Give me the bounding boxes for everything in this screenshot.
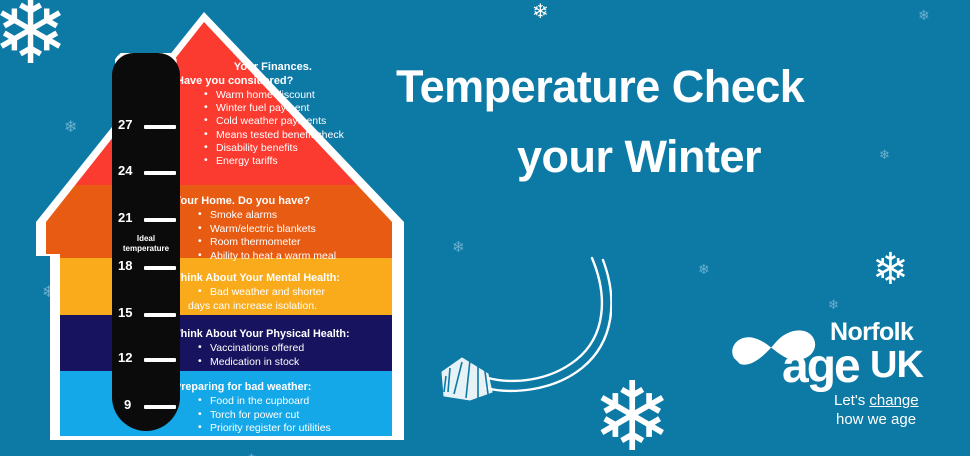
home-title: Your Home. Do you have? [174,195,336,208]
thermometer-tick-mark [144,125,176,129]
list-item: Disability benefits [202,142,344,155]
finances-title-line1: Your Finances. [176,61,344,74]
thermometer-tick-mark [144,313,176,317]
home-text-block: Your Home. Do you have? Smoke alarmsWarm… [174,195,336,263]
home-list: Smoke alarmsWarm/electric blanketsRoom t… [174,209,336,263]
snowflake-mid-right: ❄ [698,262,710,276]
logo-tagline-line2: how we age [836,411,916,428]
physical-list: Vaccinations offeredMedication in stock [174,342,350,369]
list-item: Means tested benefit check [202,129,344,142]
list-item: Warm/electric blankets [196,223,336,236]
logo-uk-text: UK [870,344,923,387]
physical-title: Think About Your Physical Health: [174,328,350,341]
logo-age-text: age [782,339,859,394]
scarf-swoosh-icon [440,250,612,402]
weather-list: Food in the cupboardTorch for power cutP… [174,395,331,435]
logo-tagline-lets: Let's [834,392,869,409]
snowflake-right-upper: ❄ [872,248,909,292]
ideal-label-line2: temperature [123,244,169,253]
list-item: Bad weather and shorter [196,286,340,299]
physical-text-block: Think About Your Physical Health: Vaccin… [174,328,350,369]
thermometer-tick-mark [144,358,176,362]
list-item: Energy tariffs [202,155,344,168]
headline-line-2: your Winter [396,122,952,192]
list-item: Ability to heat a warm meal [196,250,336,263]
page-title: Temperature Check your Winter [396,52,952,192]
mental-title: Think About Your Mental Health: [174,272,340,285]
thermometer-tick-label: 9 [124,397,131,412]
logo-tagline-line1: Let's change [834,392,919,409]
list-item: Winter fuel payment [202,102,344,115]
ideal-temperature-label: Ideal temperature [108,234,184,254]
list-item: Warm home discount [202,89,344,102]
list-item: Cold weather payments [202,115,344,128]
list-item: Medication in stock [196,356,350,369]
finances-list: Warm home discountWinter fuel paymentCol… [176,89,344,168]
snowflake-bottom-left: ❄ [246,452,257,456]
thermometer-tick-label: 27 [118,117,132,132]
thermometer-tick-mark [144,266,176,270]
list-item: Room thermometer [196,236,336,249]
thermometer-tick-mark [144,405,176,409]
thermometer-tick-mark [144,171,176,175]
thermometer-tick-label: 18 [118,258,132,273]
snowflake-right-low: ❄ [828,298,839,311]
thermometer-tick-label: 24 [118,163,132,178]
thermometer-tick-mark [144,218,176,222]
weather-text-block: Preparing for bad weather: Food in the c… [174,381,331,436]
list-item: Food in the cupboard [196,395,331,408]
list-item: Priority register for utilities [196,422,331,435]
mental-continuation: days can increase isolation. [174,300,340,313]
list-item: Vaccinations offered [196,342,350,355]
list-item: Smoke alarms [196,209,336,222]
thermometer-tick-label: 21 [118,210,132,225]
age-uk-norfolk-logo[interactable]: Norfolk age UK Let's change how we age [726,316,926,434]
ideal-label-line1: Ideal [137,234,155,243]
snowflake-top-mid: ❄ [532,2,549,22]
snowflake-top-right: ❄ [918,8,930,22]
house-infographic: Your Finances. Have you considered? Warm… [36,6,446,440]
weather-title: Preparing for bad weather: [174,381,331,394]
headline-line-1: Temperature Check [396,52,952,122]
mental-list: Bad weather and shorter [174,286,340,299]
thermometer: 2724211815129 Ideal temperature [108,53,184,437]
list-item: Torch for power cut [196,409,331,422]
poster-canvas: ❄❄❄❄❄❄❄❄❄❄❄❄ [0,0,970,456]
thermometer-tick-label: 15 [118,305,132,320]
finances-title-line2: Have you considered? [176,75,344,88]
finances-text-block: Your Finances. Have you considered? Warm… [176,61,344,168]
thermometer-tick-label: 12 [118,350,132,365]
mental-text-block: Think About Your Mental Health: Bad weat… [174,272,340,313]
logo-tagline-change: change [869,392,918,409]
